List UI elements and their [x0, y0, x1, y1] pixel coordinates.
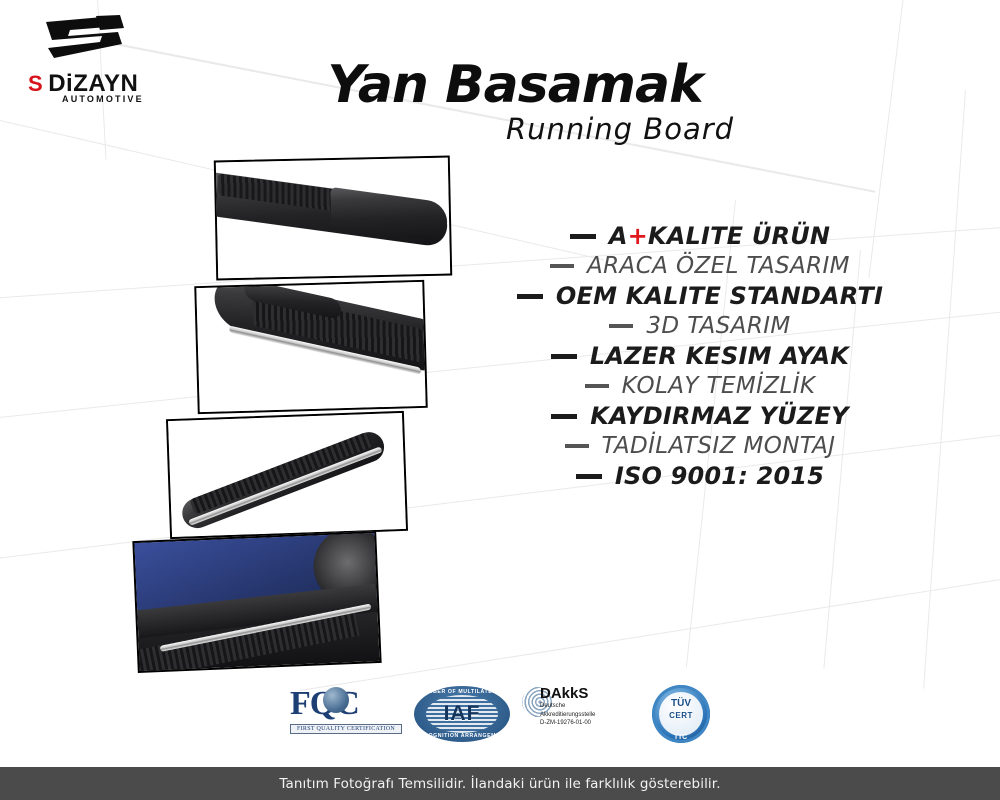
advertisement-canvas: S DiZAYN AUTOMOTIVE Yan Basamak Running … — [0, 0, 1000, 800]
tuv-cert-label: CERT — [652, 711, 710, 720]
tuv-label: TÜV — [652, 698, 710, 709]
feature-label: KOLAY TEMİZLİK — [622, 373, 816, 399]
brand-word-sub: AUTOMOTIVE — [62, 94, 144, 104]
dash-bullet-icon — [576, 474, 602, 479]
feature-label: LAZER KESIM AYAK — [590, 342, 849, 370]
dash-bullet-icon — [570, 234, 596, 239]
feature-item: KAYDIRMAZ YÜZEY — [470, 402, 930, 430]
feature-item: ARACA ÖZEL TASARIM — [470, 253, 930, 279]
dash-bullet-icon — [551, 414, 577, 419]
s-mark-icon — [34, 14, 130, 66]
dash-bullet-icon — [550, 264, 574, 268]
dakks-certification-badge: DAkkS Deutsche Akkreditierungsstelle D-Z… — [522, 685, 640, 743]
disclaimer-bar: Tanıtım Fotoğrafı Temsilidir. İlandaki ü… — [0, 767, 1000, 800]
product-photo-full-board-side — [166, 411, 408, 539]
running-board-graphic — [214, 287, 427, 403]
disclaimer-text: Tanıtım Fotoğrafı Temsilidir. İlandaki ü… — [279, 776, 720, 792]
product-photo-installed-on-blue-vehicle — [132, 531, 381, 673]
fqc-sublabel: FIRST QUALITY CERTIFICATION — [290, 724, 402, 734]
dash-bullet-icon — [551, 354, 577, 359]
tuv-certification-badge: TÜV CERT TIC — [652, 685, 710, 743]
plus-accent: + — [628, 222, 648, 250]
page-title: Yan Basamak — [300, 55, 730, 115]
feature-label: 3D TASARIM — [646, 313, 790, 339]
feature-item: LAZER KESIM AYAK — [470, 342, 930, 370]
running-board-graphic — [214, 167, 452, 258]
feature-label: ISO 9001: 2015 — [615, 462, 824, 490]
photo-canvas — [196, 282, 425, 412]
certification-badges: FQC FIRST QUALITY CERTIFICATION MEMBER O… — [290, 683, 710, 745]
background-line — [300, 571, 1000, 691]
page-subtitle: Running Board — [420, 112, 820, 146]
dakks-line-3: D-ZM-19276-01-00 — [540, 720, 595, 728]
dakks-line-2: Akkreditierungsstelle — [540, 712, 595, 720]
photo-canvas — [216, 158, 450, 279]
feature-item: A+KALITE ÜRÜN — [470, 222, 930, 250]
dakks-label: DAkkS — [540, 685, 595, 702]
feature-item: TADİLATSIZ MONTAJ — [470, 433, 930, 459]
dash-bullet-icon — [609, 324, 633, 328]
feature-label: TADİLATSIZ MONTAJ — [602, 433, 836, 459]
product-photo-black-board-angled — [214, 156, 452, 281]
dakks-text-block: DAkkS Deutsche Akkreditierungsstelle D-Z… — [540, 685, 595, 728]
feature-item: 3D TASARIM — [470, 313, 930, 339]
iaf-label: IAF — [414, 702, 510, 726]
iaf-arc-top-label: MEMBER OF MULTILATERAL — [414, 689, 510, 695]
dakks-line-1: Deutsche — [540, 703, 595, 711]
feature-label: KAYDIRMAZ YÜZEY — [590, 402, 848, 430]
feature-list: A+KALITE ÜRÜN ARACA ÖZEL TASARIM OEM KAL… — [470, 222, 930, 493]
brand-word-s: S — [28, 71, 42, 97]
running-board-graphic — [174, 421, 401, 529]
dash-bullet-icon — [517, 294, 543, 299]
feature-label: OEM KALITE STANDARTI — [556, 282, 883, 310]
photo-canvas — [134, 533, 379, 671]
feature-item: KOLAY TEMİZLİK — [470, 373, 930, 399]
iaf-certification-badge: MEMBER OF MULTILATERAL IAF RECOGNITION A… — [414, 686, 510, 742]
tuv-tic-label: TIC — [652, 734, 710, 741]
product-photo-board-with-chrome-trim — [194, 280, 427, 414]
photo-canvas — [168, 413, 406, 537]
fqc-certification-badge: FQC FIRST QUALITY CERTIFICATION — [290, 685, 402, 743]
feature-item: ISO 9001: 2015 — [470, 462, 930, 490]
globe-icon — [323, 687, 349, 713]
feature-label: A+KALITE ÜRÜN — [609, 222, 830, 250]
brand-logo: S DiZAYN AUTOMOTIVE — [20, 14, 200, 104]
iaf-arc-bottom-label: RECOGNITION ARRANGEMENT — [414, 733, 510, 739]
feature-item: OEM KALITE STANDARTI — [470, 282, 930, 310]
feature-label: ARACA ÖZEL TASARIM — [587, 253, 850, 279]
dash-bullet-icon — [565, 444, 589, 448]
dash-bullet-icon — [585, 384, 609, 388]
